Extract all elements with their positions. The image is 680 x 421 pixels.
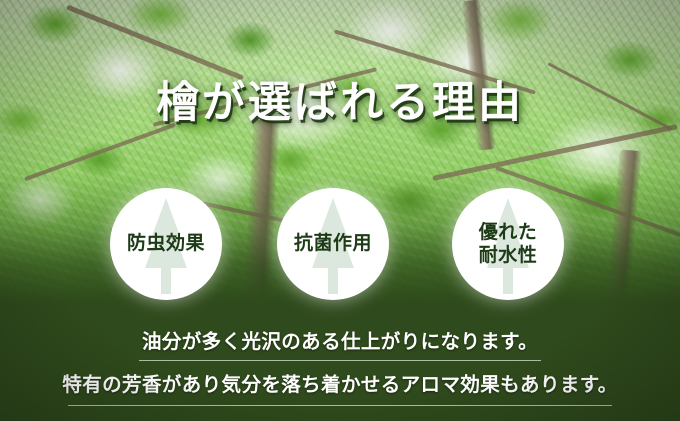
hinoki-feature-banner: 檜が選ばれる理由 防虫効果 抗菌作用 優れた 耐水性 — [0, 0, 680, 421]
footer-text-line2: 特有の芳香があり気分を落ち着かせるアロマ効果もあります。 — [0, 368, 680, 397]
page-title: 檜が選ばれる理由 — [0, 68, 680, 130]
footer-divider-bottom — [68, 405, 612, 406]
feature-circle-group: 防虫効果 抗菌作用 優れた 耐水性 — [0, 188, 680, 300]
feature-label: 抗菌作用 — [277, 188, 389, 300]
feature-label: 優れた 耐水性 — [452, 188, 564, 300]
feature-label-line1: 防虫効果 — [127, 232, 205, 255]
feature-label-line1: 抗菌作用 — [294, 232, 372, 255]
feature-circle-antibacterial: 抗菌作用 — [277, 188, 389, 300]
feature-circle-water-resistance: 優れた 耐水性 — [452, 188, 564, 300]
footer-divider-top — [139, 360, 541, 361]
footer-text-line1: 油分が多く光沢のある仕上がりになります。 — [0, 325, 680, 354]
footer-copy: 油分が多く光沢のある仕上がりになります。 特有の芳香があり気分を落ち着かせるアロ… — [0, 325, 680, 406]
feature-label: 防虫効果 — [110, 188, 222, 300]
feature-label-line2: 耐水性 — [479, 244, 538, 267]
feature-circle-insect-repellent: 防虫効果 — [110, 188, 222, 300]
feature-label-line1: 優れた — [479, 221, 538, 244]
